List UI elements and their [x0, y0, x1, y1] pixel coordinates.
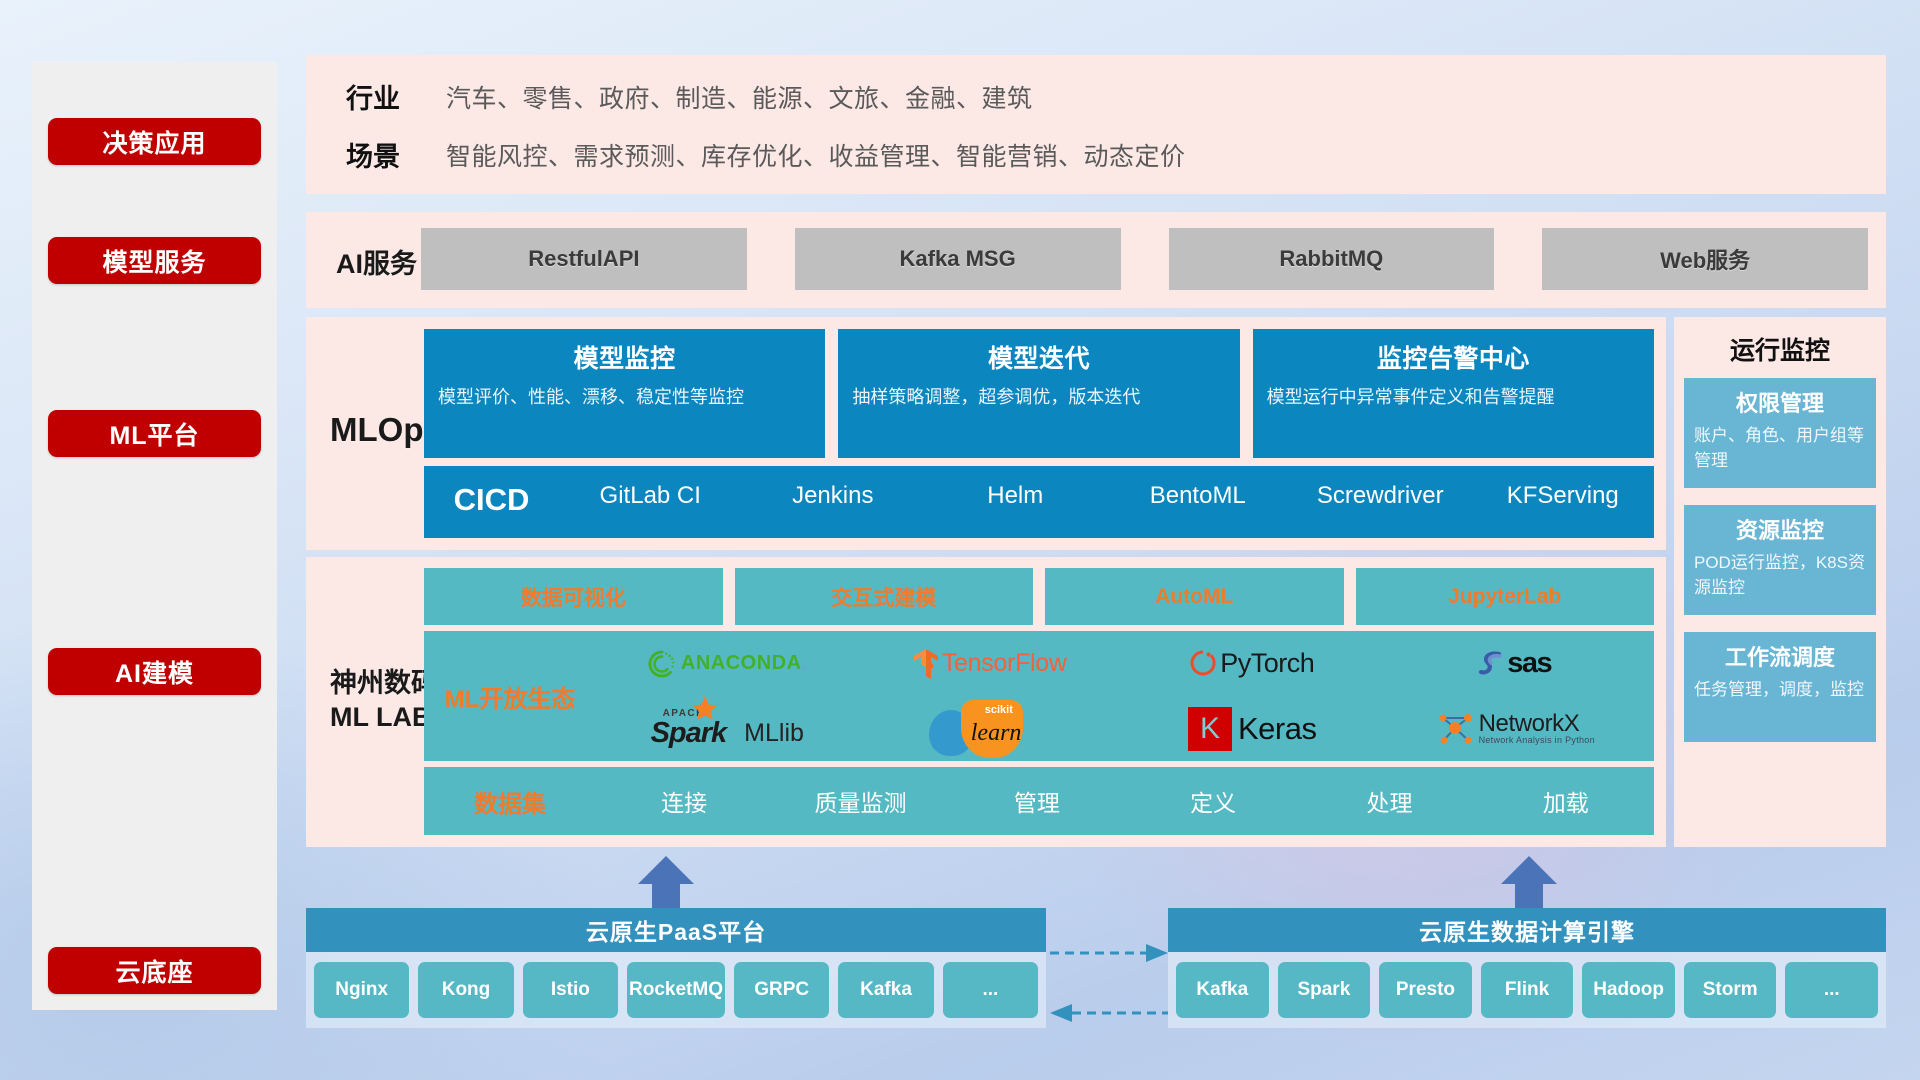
scenario-label: 场景	[346, 135, 446, 174]
paas-tile-rocketmq[interactable]: RocketMQ	[627, 962, 725, 1018]
cicd-label: CICD	[424, 482, 559, 518]
industry-label: 行业	[346, 77, 446, 116]
engine-tile-more[interactable]: ...	[1785, 962, 1878, 1018]
ai-service-chip-rabbitmq[interactable]: RabbitMQ	[1169, 228, 1495, 290]
paas-to-engine-arrow-icon	[1050, 940, 1168, 966]
card-title: 工作流调度	[1694, 640, 1866, 672]
runtime-monitor-panel: 运行监控 权限管理 账户、角色、用户组等管理 资源监控 POD运行监控，K8S资…	[1674, 317, 1886, 847]
paas-tile-istio[interactable]: Istio	[523, 962, 618, 1018]
ml-lab-chip-interactive-modeling[interactable]: 交互式建模	[735, 568, 1034, 625]
runtime-monitor-title: 运行监控	[1674, 331, 1886, 367]
stage-label-decision-app[interactable]: 决策应用	[48, 118, 261, 165]
stage-label-text: 模型服务	[102, 243, 206, 279]
paas-tile-more[interactable]: ...	[943, 962, 1038, 1018]
paas-tile-list: Nginx Kong Istio RocketMQ GRPC Kafka ...	[306, 952, 1046, 1028]
mlops-card-model-monitoring[interactable]: 模型监控 模型评价、性能、漂移、稳定性等监控	[424, 329, 825, 458]
spark-mllib-logo: APACHE Spark MLlib	[651, 709, 804, 748]
ml-open-ecosystem-title: ML开放生态	[424, 679, 596, 714]
engine-tile-hadoop[interactable]: Hadoop	[1582, 962, 1675, 1018]
paas-tile-kafka[interactable]: Kafka	[838, 962, 933, 1018]
paas-tile-grpc[interactable]: GRPC	[734, 962, 829, 1018]
dataset-step-process[interactable]: 处理	[1301, 784, 1477, 818]
card-desc: 模型评价、性能、漂移、稳定性等监控	[438, 384, 811, 411]
stage-label-ml-platform[interactable]: ML平台	[48, 410, 261, 457]
monitor-card-workflow[interactable]: 工作流调度 任务管理，调度，监控	[1684, 632, 1876, 742]
monitor-card-permission[interactable]: 权限管理 账户、角色、用户组等管理	[1684, 378, 1876, 488]
industry-row: 行业 汽车、零售、政府、制造、能源、文旅、金融、建筑	[346, 77, 1033, 116]
ml-open-ecosystem-logo-grid: ANACONDA. TensorFlow	[596, 631, 1654, 761]
card-desc: 账户、角色、用户组等管理	[1694, 424, 1866, 473]
stage-label-model-service[interactable]: 模型服务	[48, 237, 261, 284]
cloud-native-paas-block: 云原生PaaS平台 Nginx Kong Istio RocketMQ GRPC…	[306, 908, 1046, 1028]
dataset-step-load[interactable]: 加载	[1478, 784, 1654, 818]
architecture-diagram: 决策应用 模型服务 ML平台 AI建模 云底座 行业 汽车、零售、政府、制造、能…	[0, 0, 1920, 1080]
card-title: 资源监控	[1694, 513, 1866, 545]
ai-service-chip-restfulapi[interactable]: RestfulAPI	[421, 228, 747, 290]
engine-tile-kafka[interactable]: Kafka	[1176, 962, 1269, 1018]
card-desc: POD运行监控，K8S资源监控	[1694, 551, 1866, 600]
ai-service-chip-list: RestfulAPI Kafka MSG RabbitMQ Web服务	[421, 228, 1868, 290]
paas-title: 云原生PaaS平台	[306, 908, 1046, 952]
scenario-list: 智能风控、需求预测、库存优化、收益管理、智能营销、动态定价	[446, 137, 1186, 173]
industry-list: 汽车、零售、政府、制造、能源、文旅、金融、建筑	[446, 79, 1033, 115]
sas-logo: sas	[1478, 647, 1551, 680]
engine-tile-spark[interactable]: Spark	[1278, 962, 1371, 1018]
card-title: 模型监控	[438, 339, 811, 375]
ml-lab-chip-list: 数据可视化 交互式建模 AutoML JupyterLab	[424, 568, 1654, 625]
cicd-tool-jenkins[interactable]: Jenkins	[742, 482, 925, 510]
card-title: 权限管理	[1694, 386, 1866, 418]
stage-label-text: 决策应用	[102, 124, 206, 160]
dataset-step-quality-monitoring[interactable]: 质量监测	[772, 784, 948, 818]
ml-open-ecosystem-row: ML开放生态 ANACONDA.	[424, 631, 1654, 761]
cloud-native-data-engine-block: 云原生数据计算引擎 Kafka Spark Presto Flink Hadoo…	[1168, 908, 1886, 1028]
dataset-step-manage[interactable]: 管理	[949, 784, 1125, 818]
ml-lab-label-line1: 神州数码	[330, 667, 438, 701]
stage-label-cloud-base[interactable]: 云底座	[48, 947, 261, 994]
monitor-card-resource[interactable]: 资源监控 POD运行监控，K8S资源监控	[1684, 505, 1876, 615]
mlops-card-alert-center[interactable]: 监控告警中心 模型运行中异常事件定义和告警提醒	[1253, 329, 1654, 458]
dataset-row: 数据集 连接 质量监测 管理 定义 处理 加载	[424, 767, 1654, 835]
engine-to-paas-arrow-icon	[1050, 1000, 1168, 1026]
ai-service-chip-kafka-msg[interactable]: Kafka MSG	[795, 228, 1121, 290]
cicd-tool-helm[interactable]: Helm	[924, 482, 1107, 510]
stage-rail	[32, 62, 277, 1010]
scenario-row: 场景 智能风控、需求预测、库存优化、收益管理、智能营销、动态定价	[346, 135, 1186, 174]
ai-modeling-panel: 神州数码 ML LAB 数据可视化 交互式建模 AutoML JupyterLa…	[306, 557, 1666, 847]
card-desc: 任务管理，调度，监控	[1694, 678, 1866, 703]
cicd-tool-bentoml[interactable]: BentoML	[1107, 482, 1290, 510]
card-title: 模型迭代	[852, 339, 1225, 375]
engine-tile-storm[interactable]: Storm	[1684, 962, 1777, 1018]
mlops-card-model-iteration[interactable]: 模型迭代 抽样策略调整，超参调优，版本迭代	[838, 329, 1239, 458]
dataset-title: 数据集	[424, 784, 596, 819]
engine-tile-flink[interactable]: Flink	[1481, 962, 1574, 1018]
cicd-tool-gitlab-ci[interactable]: GitLab CI	[559, 482, 742, 510]
ml-lab-label: 神州数码 ML LAB	[330, 667, 438, 735]
mlops-panel: MLOps 模型监控 模型评价、性能、漂移、稳定性等监控 模型迭代 抽样策略调整…	[306, 317, 1666, 550]
mlops-card-list: 模型监控 模型评价、性能、漂移、稳定性等监控 模型迭代 抽样策略调整，超参调优，…	[424, 329, 1654, 458]
cicd-row: CICD GitLab CI Jenkins Helm BentoML Scre…	[424, 466, 1654, 538]
stage-label-text: AI建模	[115, 654, 194, 690]
decision-app-panel: 行业 汽车、零售、政府、制造、能源、文旅、金融、建筑 场景 智能风控、需求预测、…	[306, 55, 1886, 194]
paas-tile-nginx[interactable]: Nginx	[314, 962, 409, 1018]
dataset-step-define[interactable]: 定义	[1125, 784, 1301, 818]
cicd-tool-screwdriver[interactable]: Screwdriver	[1289, 482, 1472, 510]
pytorch-logo: PyTorch	[1190, 648, 1314, 679]
dataset-step-connect[interactable]: 连接	[596, 784, 772, 818]
ml-lab-chip-data-visualization[interactable]: 数据可视化	[424, 568, 723, 625]
ml-lab-chip-automl[interactable]: AutoML	[1045, 568, 1344, 625]
ml-lab-label-line2: ML LAB	[330, 701, 438, 735]
engine-tile-presto[interactable]: Presto	[1379, 962, 1472, 1018]
stage-label-text: 云底座	[115, 953, 193, 989]
scikit-learn-logo: scikit learn	[927, 698, 1053, 760]
stage-label-ai-modeling[interactable]: AI建模	[48, 648, 261, 695]
card-title: 监控告警中心	[1267, 339, 1640, 375]
ai-service-chip-web[interactable]: Web服务	[1542, 228, 1868, 290]
cicd-tool-kfserving[interactable]: KFServing	[1472, 482, 1655, 510]
card-desc: 模型运行中异常事件定义和告警提醒	[1267, 384, 1640, 411]
ml-lab-chip-jupyterlab[interactable]: JupyterLab	[1356, 568, 1655, 625]
model-service-panel: AI服务 RestfulAPI Kafka MSG RabbitMQ Web服务	[306, 212, 1886, 308]
anaconda-logo: ANACONDA.	[647, 649, 808, 679]
networkx-logo: NetworkX Network Analysis in Python	[1435, 710, 1595, 748]
paas-tile-kong[interactable]: Kong	[418, 962, 513, 1018]
card-desc: 抽样策略调整，超参调优，版本迭代	[852, 384, 1225, 411]
tensorflow-logo: TensorFlow	[913, 648, 1067, 680]
stage-label-text: ML平台	[109, 416, 199, 452]
keras-logo: K Keras	[1188, 707, 1316, 751]
ai-service-label: AI服务	[336, 242, 417, 281]
engine-tile-list: Kafka Spark Presto Flink Hadoop Storm ..…	[1168, 952, 1886, 1028]
engine-title: 云原生数据计算引擎	[1168, 908, 1886, 952]
